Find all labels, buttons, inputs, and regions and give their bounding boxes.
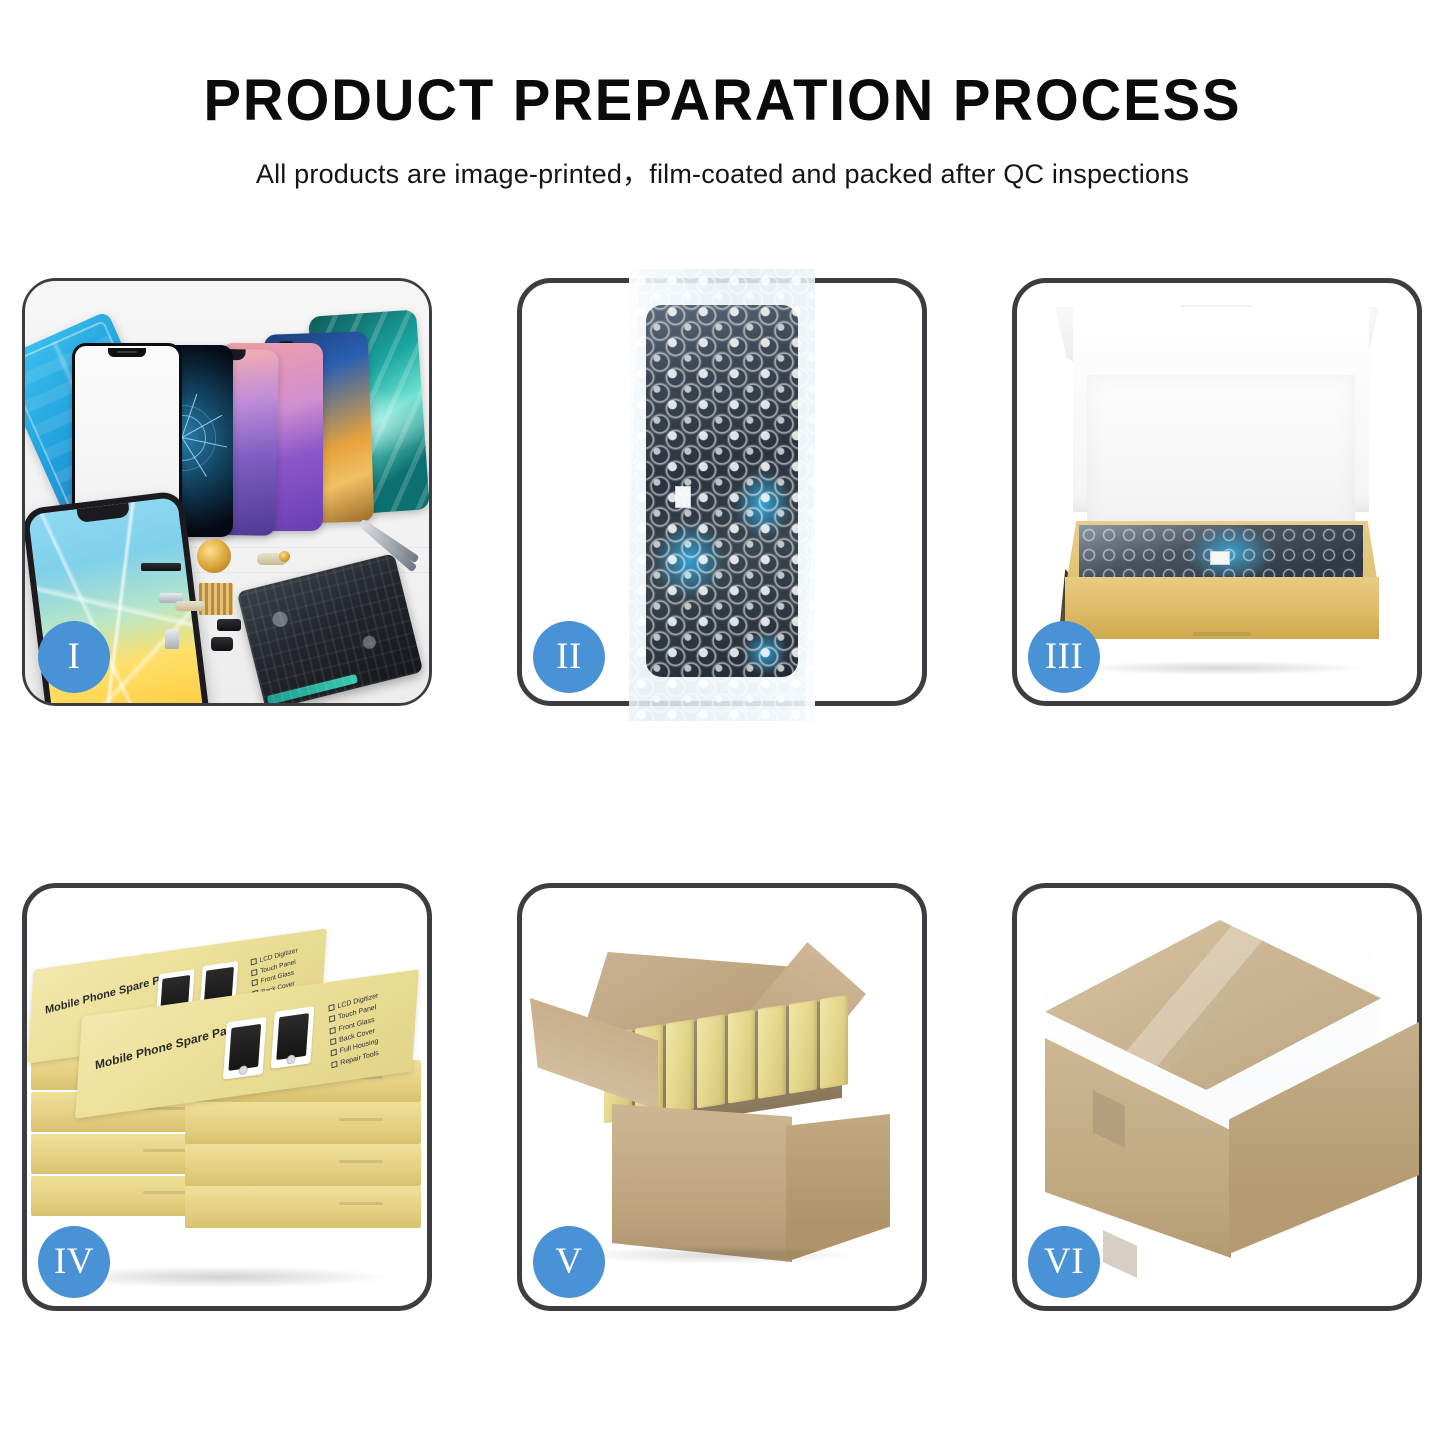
component-button-contact [279, 551, 290, 562]
retail-box-brand-label: Mobile Phone Spare Parts [95, 1020, 242, 1073]
page-title: PRODUCT PREPARATION PROCESS [22, 72, 1424, 130]
qc-label-sticker [1210, 551, 1230, 565]
bubble-wrap-sleeve [629, 269, 815, 721]
step-badge-1: I [38, 621, 110, 693]
box-artwork-screen-b [271, 1006, 315, 1069]
retail-box-item [820, 995, 848, 1089]
process-step-grid: 08:08 [22, 278, 1423, 1311]
step-panel-sealed-shipping-carton[interactable]: VI [1012, 883, 1422, 1311]
component-sim-tray [165, 629, 179, 649]
mailer-inner-liner [1087, 375, 1355, 530]
component-loudspeaker [211, 637, 233, 651]
retail-box-right-2 [185, 1102, 421, 1144]
step-badge-5: V [533, 1226, 605, 1298]
step-panel-phone-parts-assortment[interactable]: 08:08 [22, 278, 432, 706]
page-subtitle: All products are image-printed，film-coat… [0, 152, 1445, 191]
retail-box-right-3 [185, 1144, 421, 1186]
drop-shadow [578, 1246, 854, 1264]
retail-box-item [697, 1014, 725, 1108]
drop-shadow [1075, 661, 1367, 675]
earpiece-slot-icon [117, 351, 137, 353]
step-panel-screen-in-open-mailer-box[interactable]: III [1012, 278, 1422, 706]
wrap-edge-seal [629, 269, 815, 721]
retail-box-item [728, 1009, 756, 1103]
step-panel-open-shipping-carton[interactable]: V [517, 883, 927, 1311]
step-panel-bubble-wrapped-screen[interactable]: II [517, 278, 927, 706]
carton-body-front [612, 1104, 792, 1262]
retail-box-item [789, 1000, 817, 1094]
mailer-box-front [1065, 577, 1379, 639]
component-ic-chip [199, 583, 233, 615]
retail-box-item [666, 1019, 694, 1113]
component-speaker-coil [197, 539, 231, 573]
step-badge-4: IV [38, 1226, 110, 1298]
bubble-wrapped-screen-in-box [1079, 525, 1363, 581]
component-vibrator [217, 619, 241, 631]
step-panel-stacked-retail-boxes[interactable]: Mobile Phone Spare Parts LCD Digitizer T… [22, 883, 432, 1311]
tape-tab-lower [1103, 1230, 1137, 1278]
step-badge-2: II [533, 621, 605, 693]
step-badge-3: III [1028, 621, 1100, 693]
step-badge-6: VI [1028, 1226, 1100, 1298]
retail-box-right-4 [185, 1186, 421, 1228]
component-flex-cable-d [175, 601, 205, 611]
retail-box-checklist-front: LCD Digitizer Touch Panel Front Glass Ba… [328, 990, 381, 1071]
page-header: PRODUCT PREPARATION PROCESS All products… [0, 0, 1445, 191]
carton-body-right [786, 1114, 890, 1262]
retail-box-item [758, 1004, 786, 1098]
component-earpiece-mesh [141, 563, 181, 571]
box-artwork-screen-a [223, 1017, 267, 1080]
